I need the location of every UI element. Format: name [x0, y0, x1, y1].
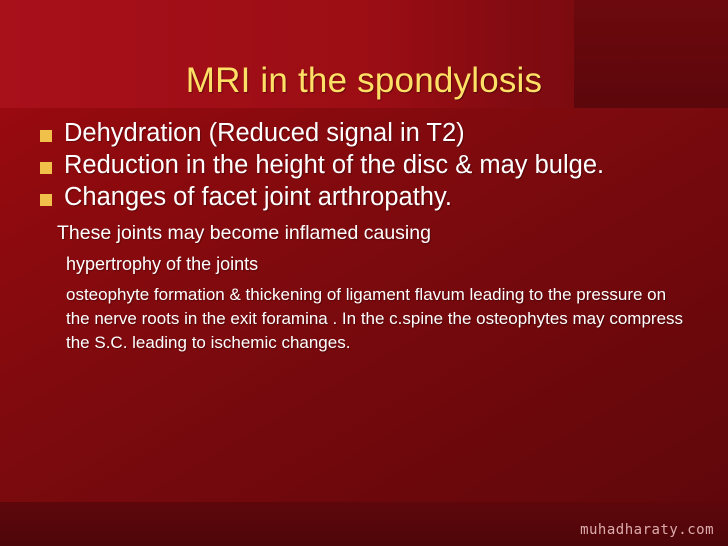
square-bullet-icon — [40, 162, 52, 174]
sub-text-line-2: hypertrophy of the joints — [0, 247, 728, 276]
sub-text-line-1: These joints may become inflamed causing — [0, 213, 728, 246]
list-item: Reduction in the height of the disc & ma… — [0, 150, 728, 182]
list-item: Dehydration (Reduced signal in T2) — [0, 118, 728, 150]
bullet-text: Changes of facet joint arthropathy. — [64, 183, 698, 213]
bullet-text: Dehydration (Reduced signal in T2) — [64, 119, 698, 149]
square-bullet-icon — [40, 130, 52, 142]
slide: MRI in the spondylosis Dehydration (Redu… — [0, 0, 728, 546]
bullet-text: Reduction in the height of the disc & ma… — [64, 151, 698, 181]
page-title: MRI in the spondylosis — [0, 61, 728, 101]
watermark: muhadharaty.com — [580, 522, 714, 538]
sub-text-paragraph: osteophyte formation & thickening of lig… — [0, 276, 728, 355]
list-item: Changes of facet joint arthropathy. — [0, 182, 728, 214]
slide-body: Dehydration (Reduced signal in T2) Reduc… — [0, 118, 728, 356]
square-bullet-icon — [40, 194, 52, 206]
